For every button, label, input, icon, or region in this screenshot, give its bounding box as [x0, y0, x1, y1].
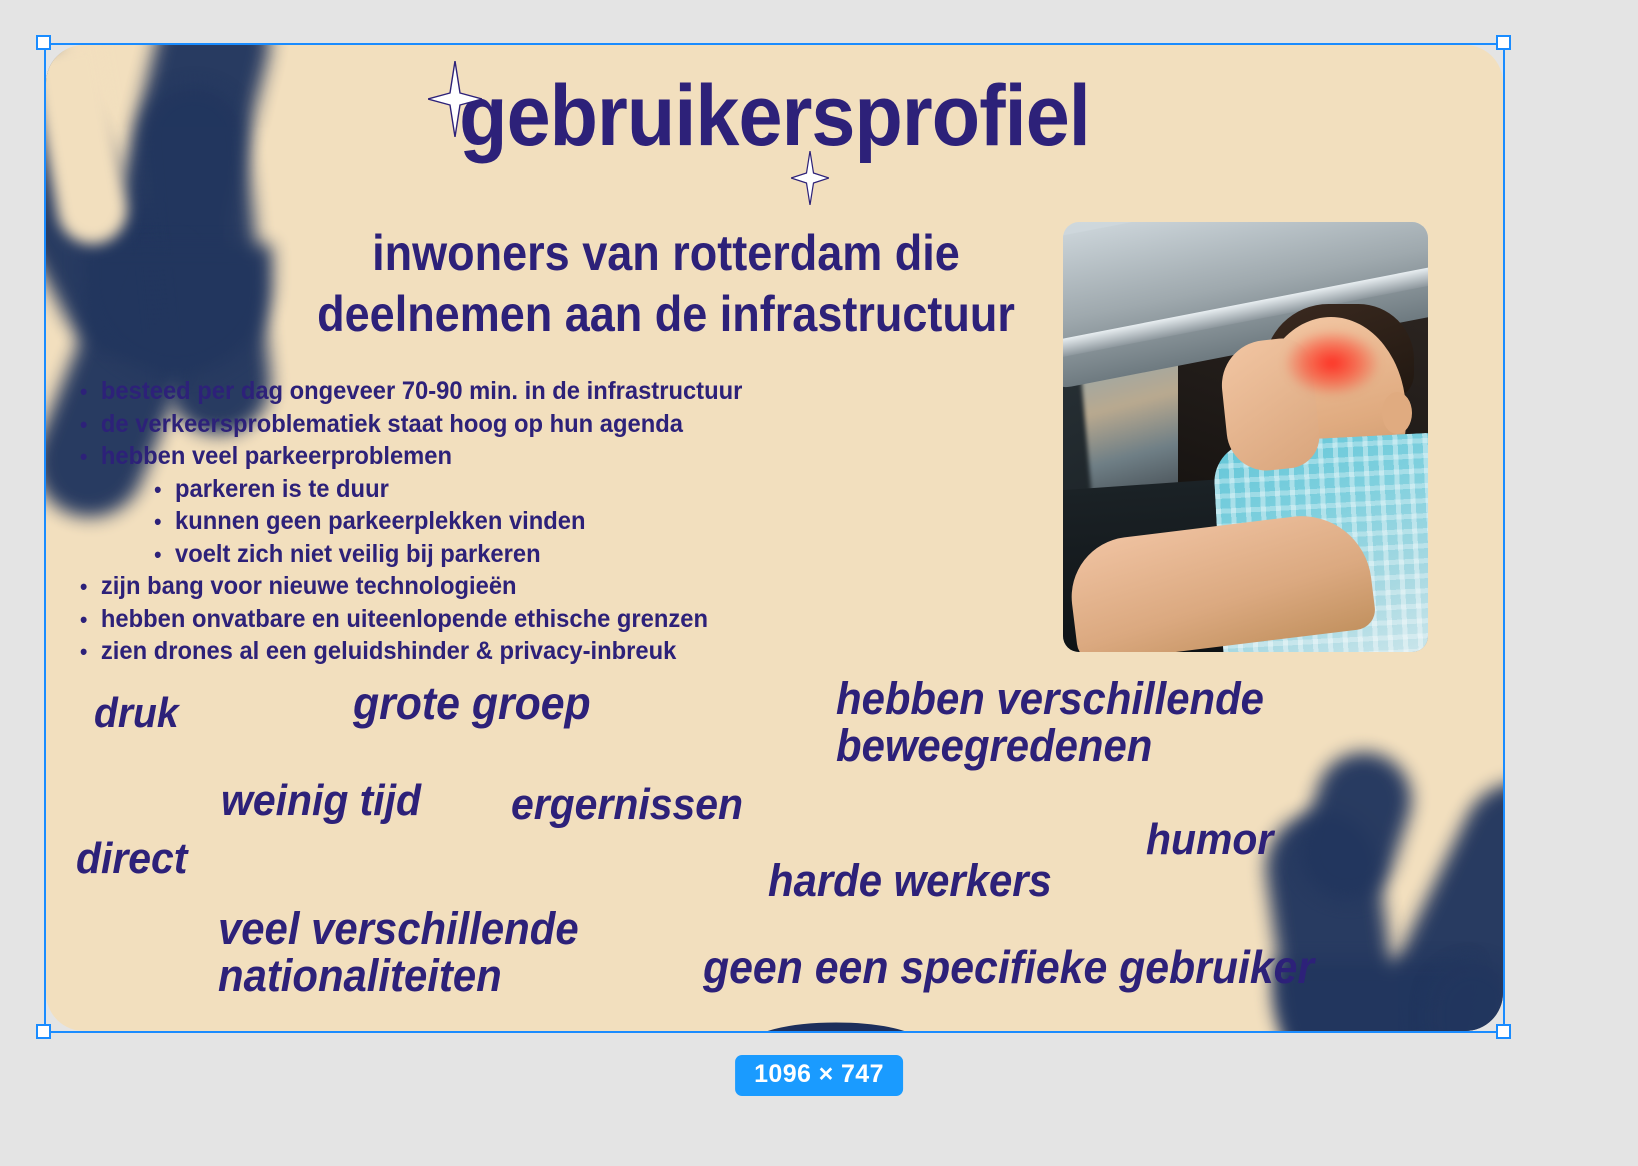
bullet-marker-icon: •: [154, 476, 175, 505]
editor-canvas: gebruikersprofiel inwoners van rotterdam…: [0, 0, 1638, 1166]
resize-handle-bottom-left[interactable]: [36, 1024, 51, 1039]
resize-handle-bottom-right[interactable]: [1496, 1024, 1511, 1039]
bullet-item: •parkeren is te duur: [80, 473, 859, 506]
resize-handle-top-left[interactable]: [36, 35, 51, 50]
page-title: gebruikersprofiel: [104, 67, 1444, 166]
bullet-marker-icon: •: [80, 443, 101, 472]
photo-ear: [1382, 392, 1412, 434]
bullet-text: parkeren is te duur: [175, 473, 389, 506]
bullet-text: de verkeersproblematiek staat hoog op hu…: [101, 408, 683, 441]
bullet-marker-icon: •: [154, 541, 175, 570]
bullet-text: zien drones al een geluidshinder & priva…: [101, 635, 676, 668]
keyword-druk: druk: [94, 691, 179, 735]
bullet-text: hebben veel parkeerproblemen: [101, 440, 452, 473]
headache-glow-icon: [1284, 330, 1380, 396]
bullet-item: •kunnen geen parkeerplekken vinden: [80, 505, 859, 538]
sparkle-icon: [791, 151, 829, 205]
bullet-item: •hebben onvatbare en uiteenlopende ethis…: [80, 603, 859, 636]
keyword-weinig-tijd: weinig tijd: [221, 778, 421, 824]
keyword-grote-groep: grote groep: [353, 679, 591, 727]
bullet-item: •zien drones al een geluidshinder & priv…: [80, 635, 859, 668]
bullet-text: zijn bang voor nieuwe technologieën: [101, 570, 517, 603]
keyword-geen-een-specifieke-gebruiker: geen een specifieke gebruiker: [703, 943, 1314, 991]
bullet-item: •besteed per dag ongeveer 70-90 min. in …: [80, 375, 859, 408]
keyword-ergernissen: ergernissen: [511, 782, 743, 828]
bullet-list: •besteed per dag ongeveer 70-90 min. in …: [80, 375, 859, 668]
bullet-item: •de verkeersproblematiek staat hoog op h…: [80, 408, 859, 441]
keyword-hebben-verschillende-beweegredenen: hebben verschillende beweegredenen: [836, 675, 1320, 770]
school-logo: RSG maurits: [741, 1011, 931, 1031]
keyword-humor: humor: [1146, 817, 1273, 863]
sparkle-icon: [428, 61, 482, 137]
driver-headache-photo: [1063, 222, 1428, 652]
page-subtitle: inwoners van rotterdam die deelnemen aan…: [261, 223, 1071, 345]
bullet-text: kunnen geen parkeerplekken vinden: [175, 505, 585, 538]
resize-handle-top-right[interactable]: [1496, 35, 1511, 50]
bullet-marker-icon: •: [80, 606, 101, 635]
poster-artboard[interactable]: gebruikersprofiel inwoners van rotterdam…: [46, 45, 1503, 1031]
bullet-text: hebben onvatbare en uiteenlopende ethisc…: [101, 603, 708, 636]
bullet-marker-icon: •: [80, 378, 101, 407]
bullet-text: voelt zich niet veilig bij parkeren: [175, 538, 541, 571]
keyword-harde-werkers: harde werkers: [768, 857, 1052, 904]
keyword-veel-verschillende-nationaliteiten: veel verschillende nationaliteiten: [218, 905, 609, 1000]
bullet-marker-icon: •: [80, 411, 101, 440]
bullet-text: besteed per dag ongeveer 70-90 min. in d…: [101, 375, 742, 408]
bullet-item: •zijn bang voor nieuwe technologieën: [80, 570, 859, 603]
bullet-item: •hebben veel parkeerproblemen: [80, 440, 859, 473]
bullet-item: •voelt zich niet veilig bij parkeren: [80, 538, 859, 571]
bullet-marker-icon: •: [80, 573, 101, 602]
bullet-marker-icon: •: [154, 508, 175, 537]
bullet-marker-icon: •: [80, 638, 101, 667]
dimension-badge: 1096 × 747: [735, 1055, 903, 1096]
keyword-direct: direct: [76, 836, 187, 882]
